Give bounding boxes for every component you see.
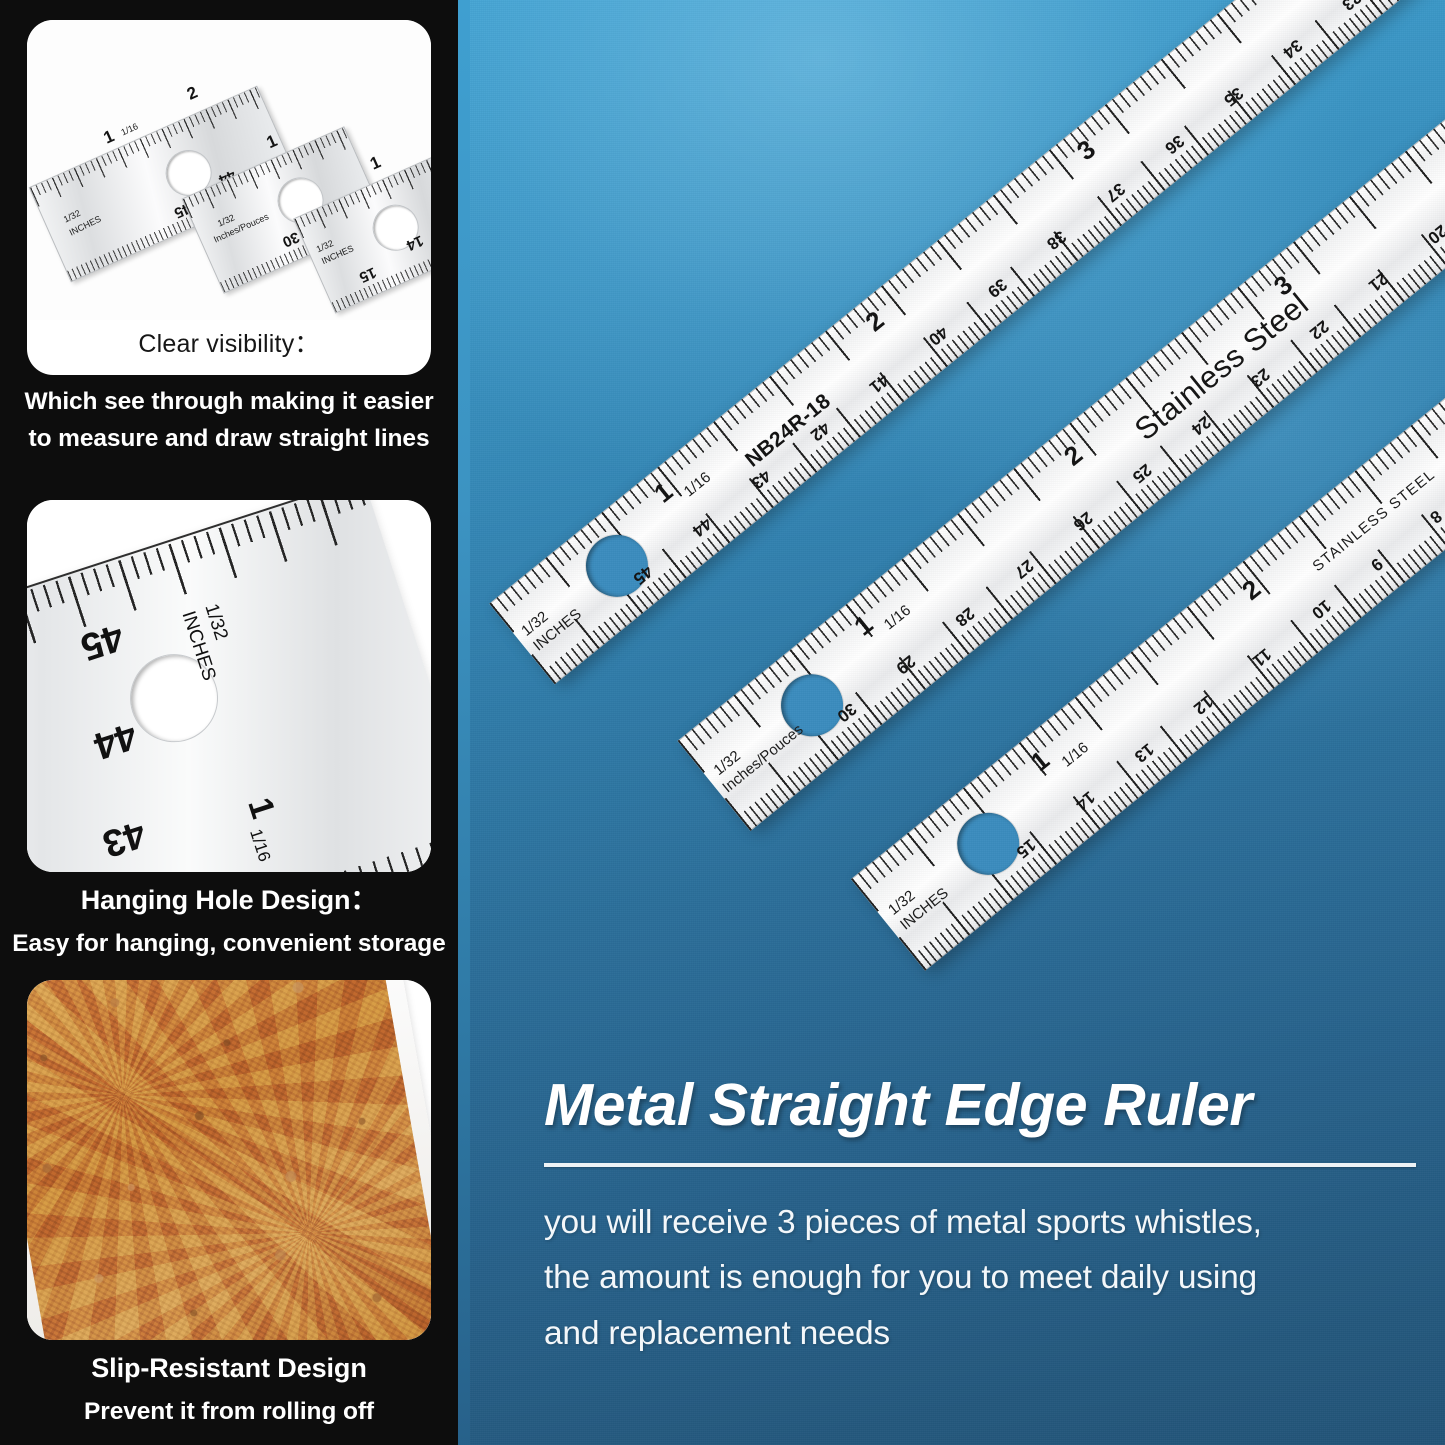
feature-block-grip: Slip-Resistant Design Prevent it from ro… — [0, 980, 458, 1430]
photo-cork-backing — [27, 980, 431, 1340]
photo-hanging-hole-macro: 1/32 INCHES 45 44 43 2 1 1/16 N — [27, 500, 431, 872]
title-divider-rule — [544, 1163, 1416, 1167]
product-description: you will receive 3 pieces of metal sport… — [544, 1195, 1424, 1362]
product-infographic: 1/32 INCHES 1 1/16 2 45 44 1/32 — [0, 0, 1445, 1445]
feature-heading-hanging: Hanging Hole Design： — [6, 880, 452, 925]
caption-line: Prevent it from rolling off — [6, 1393, 452, 1430]
feature-caption-hanging: Hanging Hole Design： Easy for hanging, c… — [0, 872, 458, 962]
caption-line: to measure and draw straight lines — [6, 420, 452, 457]
feature-caption-grip: Slip-Resistant Design Prevent it from ro… — [0, 1340, 458, 1430]
inch-mark-1: 1 — [367, 152, 384, 174]
feature-sidebar: 1/32 INCHES 1 1/16 2 45 44 1/32 — [0, 0, 458, 1445]
inch-mark-1: 1 — [239, 793, 282, 823]
metric-mark-44: 44 — [88, 713, 141, 767]
description-line: you will receive 3 pieces of metal sport… — [544, 1195, 1424, 1251]
frac-mark-1-16: 1/16 — [119, 121, 139, 137]
caption-line: Easy for hanging, convenient storage — [6, 925, 452, 962]
feature-heading-clarity: Clear visibility： — [27, 320, 431, 374]
feature-caption-clarity: Which see through making it easier to me… — [0, 375, 458, 457]
cork-texture — [27, 980, 431, 1340]
feature-block-clarity: 1/32 INCHES 1 1/16 2 45 44 1/32 — [0, 20, 458, 457]
metric-mark-43: 43 — [97, 811, 150, 865]
hero-text-block: Metal Straight Edge Ruler you will recei… — [544, 1074, 1424, 1361]
feature-card-grip — [27, 980, 431, 1340]
macro-ruler-blade: 1/32 INCHES 45 44 43 2 1 1/16 N — [27, 500, 431, 872]
feature-block-hanging: 1/32 INCHES 45 44 43 2 1 1/16 N — [0, 500, 458, 962]
product-title: Metal Straight Edge Ruler — [544, 1074, 1424, 1137]
panel-divider — [458, 0, 470, 1445]
photo-three-ruler-ends: 1/32 INCHES 1 1/16 2 45 44 1/32 — [27, 20, 431, 320]
feature-card-hanging: 1/32 INCHES 45 44 43 2 1 1/16 N — [27, 500, 431, 872]
description-line: the amount is enough for you to meet dai… — [544, 1250, 1424, 1306]
feature-card-clarity: 1/32 INCHES 1 1/16 2 45 44 1/32 — [27, 20, 431, 375]
frac-mark-1-16: 1/16 — [245, 827, 274, 865]
description-line: and replacement needs — [544, 1306, 1424, 1362]
inch-mark-1: 1 — [101, 126, 118, 148]
hero-panel: 1/32 INCHES NB24R-18 1/16 1 2 3 4 5 45 4… — [470, 0, 1445, 1445]
feature-heading-grip: Slip-Resistant Design — [6, 1348, 452, 1393]
caption-line: Which see through making it easier — [6, 383, 452, 420]
inch-mark-2: 2 — [184, 83, 201, 105]
